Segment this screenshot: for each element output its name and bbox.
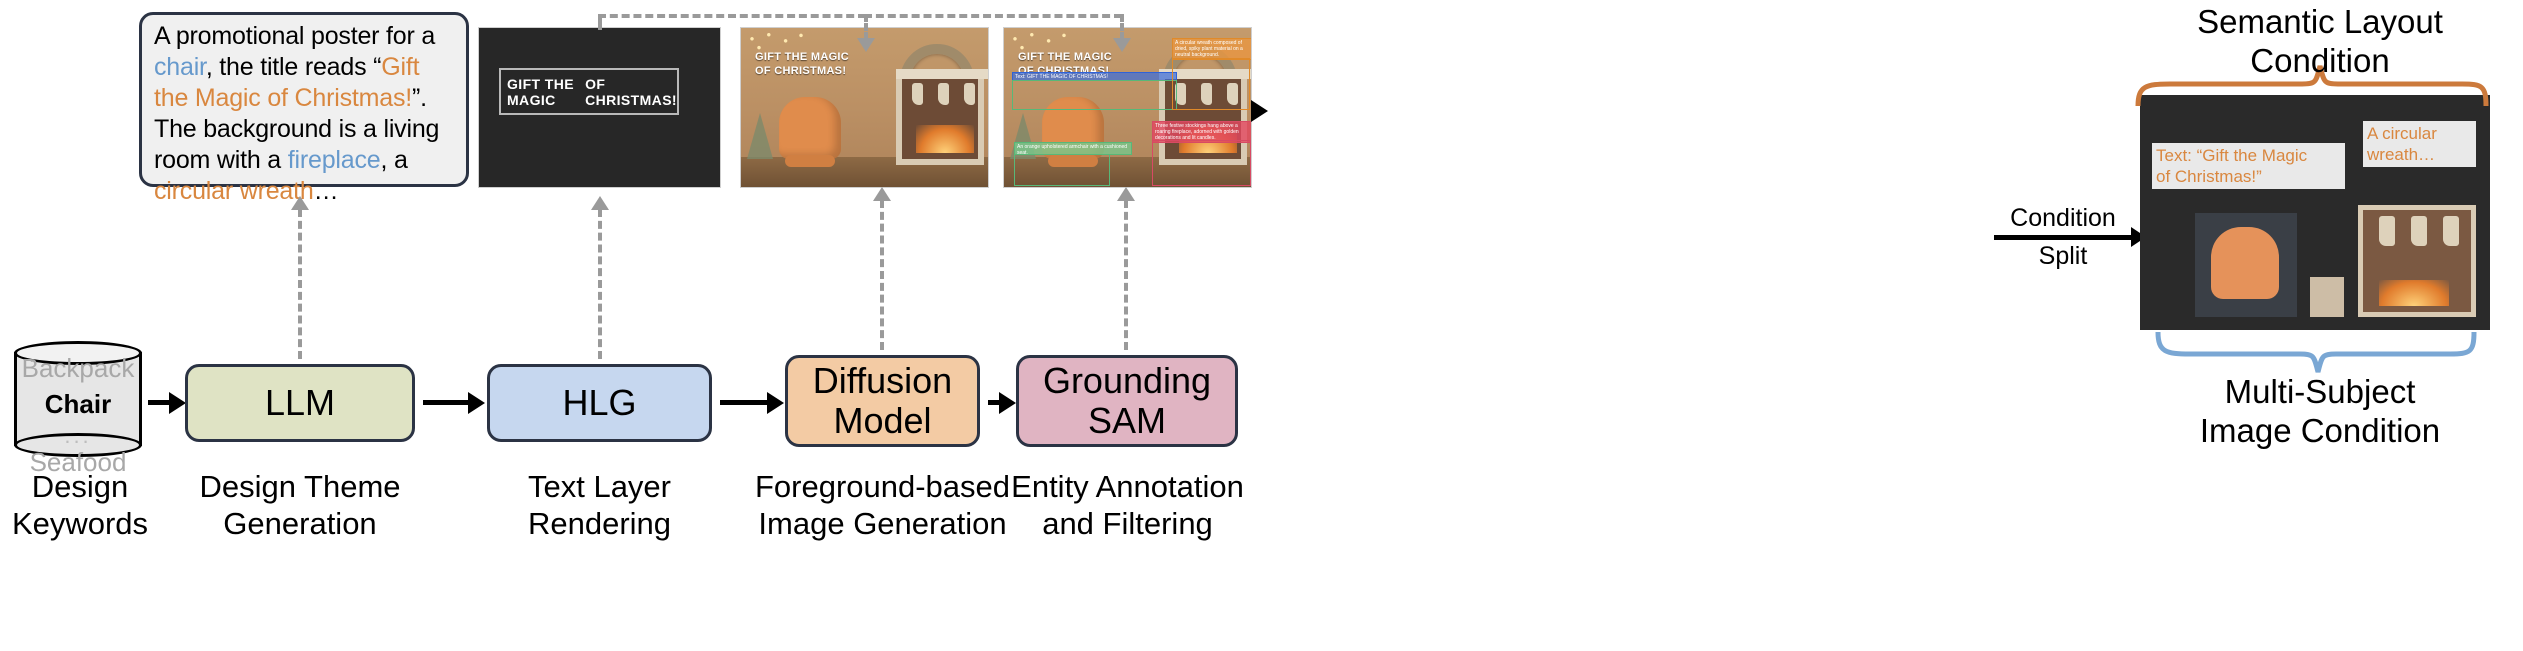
caption-line-1: Text Layer [528, 469, 671, 504]
subject-crop-chair [2195, 213, 2297, 317]
stocking-3 [964, 83, 975, 105]
arrow-llm-to-hlg [423, 400, 469, 405]
dashed-line-top-2 [864, 14, 1122, 18]
caption-line-1: Design [32, 469, 129, 504]
keyword-ellipsis: ... [14, 423, 142, 449]
dashed-arrowhead-down-foreground [857, 38, 875, 52]
semantic-wreath-chip-line-1: A circular [2367, 124, 2437, 143]
annotation-frame-wreath [1172, 58, 1250, 110]
fire [2379, 280, 2449, 306]
dashed-line-top-1 [598, 14, 866, 18]
keyword-backpack: Backpack [14, 353, 142, 384]
caption-entity-annotation-filtering: Entity Annotation and Filtering [1000, 468, 1255, 542]
prompt-segment-1: A promotional poster for a [154, 22, 435, 50]
stocking-1 [912, 83, 923, 105]
caption-line-2: Keywords [12, 506, 148, 541]
stocking-2 [2411, 216, 2427, 246]
semantic-layout-condition-label: Semantic Layout Condition [2120, 2, 2520, 80]
pipeline-box-sam-label: Grounding SAM [1043, 361, 1211, 441]
multi-label-line-1: Multi-Subject [2225, 373, 2416, 410]
condition-split-line-1: Condition [1988, 204, 2138, 233]
semantic-text-chip: Text: “Gift the Magic of Christmas!” [2152, 143, 2345, 189]
design-keywords-store: Backpack Chair ... Seafood [14, 341, 142, 456]
prompt-segment-4: , a [380, 146, 407, 174]
stocking-2 [938, 83, 949, 105]
tree-object [747, 113, 773, 159]
prompt-segment-2: , the title reads “ [206, 53, 381, 81]
pipeline-box-llm-label: LLM [265, 383, 335, 423]
arrow-keywords-to-llm [148, 400, 170, 405]
subject-crop-fireplace [2358, 205, 2476, 317]
arrow-diffusion-to-sam [988, 400, 1000, 405]
stocking-3 [2443, 216, 2459, 246]
condition-split-line-2: Split [1988, 242, 2138, 271]
caption-line-2: and Filtering [1042, 506, 1213, 541]
annotation-frame-chair [1014, 154, 1110, 186]
pipeline-box-hlg-label: HLG [562, 383, 636, 423]
fire [916, 125, 974, 153]
dashed-line-top-2-drop [1120, 14, 1124, 40]
poster-headline: GIFT THE MAGIC OF CHRISTMAS! [755, 50, 915, 78]
condition-split-arrow: Condition Split [1988, 204, 2138, 271]
multi-subject-image-condition-label: Multi-Subject Image Condition [2120, 372, 2520, 450]
dashed-line-sam-to-annotated [1124, 200, 1128, 350]
pipeline-box-diffusion-model[interactable]: Diffusion Model [785, 355, 980, 447]
dashed-line-llm-to-prompt [298, 209, 302, 359]
sam-label-line-2: SAM [1088, 400, 1166, 441]
dashed-arrowhead-up-prompt [291, 196, 309, 210]
text-layer-preview: GIFT THE MAGIC OF CHRISTMAS! [478, 27, 721, 188]
semantic-label-line-2: Condition [2250, 42, 2389, 79]
dashed-arrowhead-up-image [873, 187, 891, 201]
chair-thumbnail [2211, 227, 2279, 299]
multi-subject-brace [2150, 330, 2490, 376]
pipeline-box-diffusion-label: Diffusion Model [813, 361, 952, 441]
annotation-label-wreath: A circular wreath composed of dried, spi… [1172, 38, 1252, 60]
armchair-object [779, 97, 841, 159]
semantic-label-line-1: Semantic Layout [2197, 3, 2443, 40]
arrow-hlg-to-diffusion [720, 400, 768, 405]
text-layer-bbox: GIFT THE MAGIC OF CHRISTMAS! [499, 68, 679, 115]
caption-line-1: Foreground-based [755, 469, 1010, 504]
annotation-frame-fireplace [1152, 140, 1251, 186]
fireplace-object [896, 73, 984, 165]
dashed-line-hlg-to-textlayer [598, 209, 602, 359]
prompt-keyword-chair: chair [154, 53, 206, 81]
keyword-chair: Chair [14, 389, 142, 420]
semantic-text-chip-line-2: of Christmas!” [2156, 167, 2262, 186]
poster-headline-line-1: GIFT THE MAGIC [755, 51, 849, 63]
semantic-text-chip-line-1: Text: “Gift the Magic [2156, 146, 2307, 165]
caption-line-2: Image Generation [758, 506, 1006, 541]
multi-label-line-2: Image Condition [2200, 412, 2440, 449]
condition-split-arrow-shaft [1994, 235, 2132, 240]
dashed-line-diffusion-to-image [880, 200, 884, 350]
dashed-line-top-1-stub [598, 14, 602, 30]
pipeline-box-grounding-sam[interactable]: Grounding SAM [1016, 355, 1238, 447]
diffusion-label-line-2: Model [833, 400, 931, 441]
caption-text-layer-rendering: Text Layer Rendering [477, 468, 722, 542]
caption-line-1: Entity Annotation [1011, 469, 1244, 504]
pipeline-box-hlg[interactable]: HLG [487, 364, 712, 442]
caption-line-2: Generation [223, 506, 376, 541]
semantic-wreath-chip: A circular wreath… [2363, 121, 2476, 167]
caption-line-1: Design Theme [199, 469, 400, 504]
sam-label-line-1: Grounding [1043, 360, 1211, 401]
text-layer-line-2: OF CHRISTMAS! [585, 76, 677, 108]
text-layer-line-1: GIFT THE MAGIC [507, 76, 585, 108]
prompt-keyword-wreath: circular wreath [154, 177, 314, 205]
caption-design-keywords: Design Keywords [0, 468, 160, 542]
annotation-frame-text [1012, 80, 1177, 110]
condition-panel: Text: “Gift the Magic of Christmas!” A c… [2140, 95, 2490, 330]
prompt-keyword-fireplace: fireplace [288, 146, 381, 174]
prompt-segment-5: … [314, 177, 339, 205]
caption-line-2: Rendering [528, 506, 671, 541]
caption-design-theme-generation: Design Theme Generation [175, 468, 425, 542]
design-theme-prompt-bubble: A promotional poster for a chair, the ti… [139, 12, 469, 187]
caption-foreground-image-generation: Foreground-based Image Generation [730, 468, 1035, 542]
stocking-1 [2379, 216, 2395, 246]
dashed-arrowhead-up-annotated [1117, 187, 1135, 201]
dashed-arrowhead-up-textlayer [591, 196, 609, 210]
semantic-wreath-chip-line-2: wreath… [2367, 145, 2435, 164]
dashed-arrowhead-down-annotated [1113, 38, 1131, 52]
gift-thumbnail [2310, 277, 2344, 317]
pipeline-box-llm[interactable]: LLM [185, 364, 415, 442]
poster-headline-line-2: OF CHRISTMAS! [755, 65, 846, 77]
poster-headline-line-1: GIFT THE MAGIC [1018, 51, 1112, 63]
diffusion-label-line-1: Diffusion [813, 360, 952, 401]
